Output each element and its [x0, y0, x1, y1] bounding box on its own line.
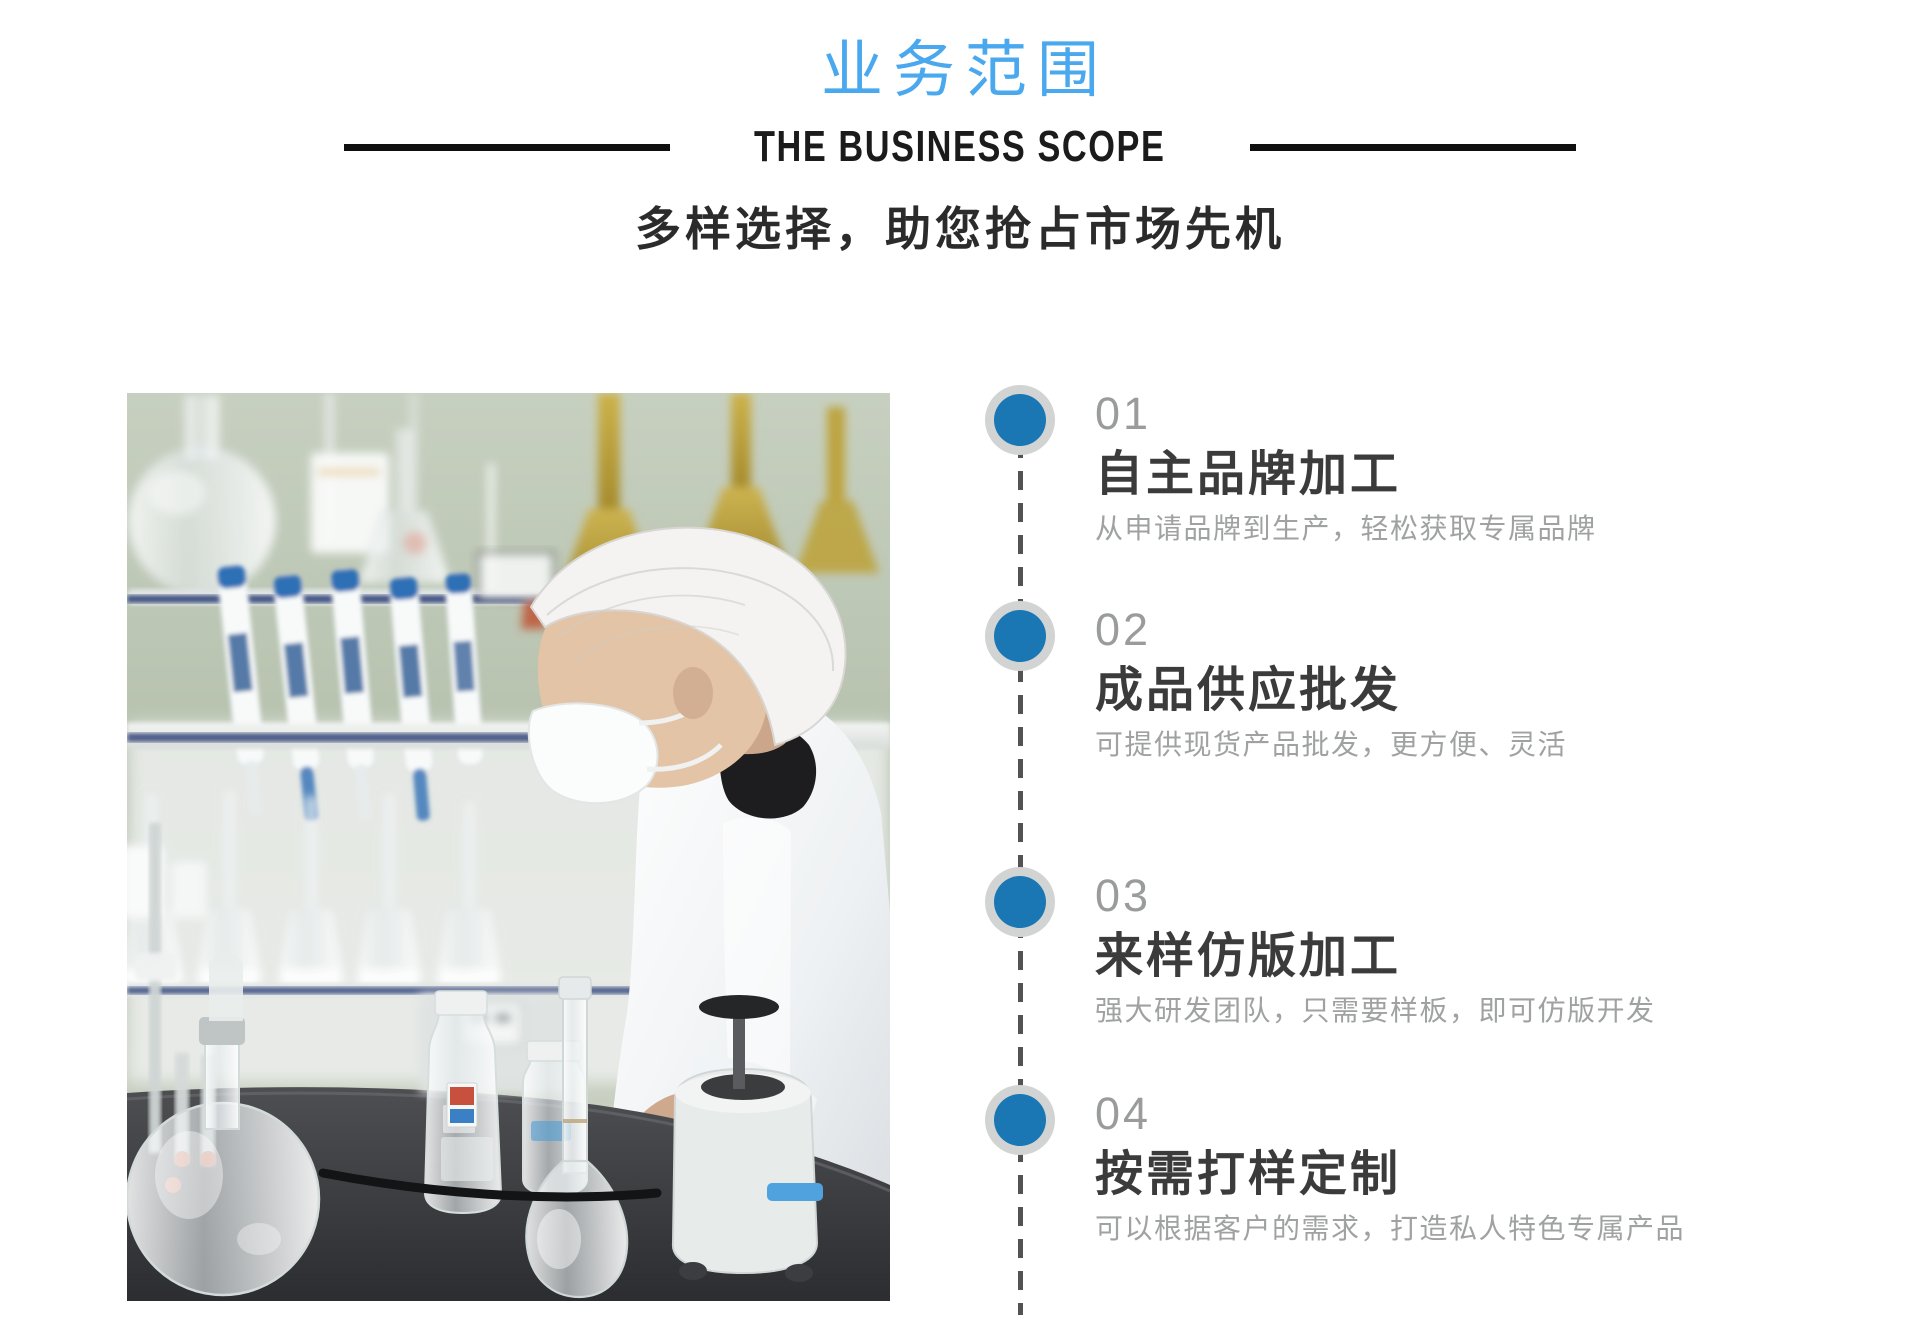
- timeline-dot-inner-03: [994, 876, 1046, 928]
- timeline-text-01: 01 自主品牌加工 从申请品牌到生产，轻松获取专属品牌: [1095, 391, 1855, 545]
- title-rule-row: THE BUSINESS SCOPE: [0, 125, 1920, 169]
- business-scope-timeline: 01 自主品牌加工 从申请品牌到生产，轻松获取专属品牌 02 成品供应批发 可提…: [985, 385, 1865, 1315]
- timeline-text-02: 02 成品供应批发 可提供现货产品批发，更方便、灵活: [1095, 607, 1855, 761]
- page-subtitle-en: THE BUSINESS SCOPE: [754, 125, 1165, 169]
- timeline-dashed-line: [1018, 407, 1023, 1315]
- timeline-dot-inner-01: [994, 394, 1046, 446]
- divider-left: [344, 144, 670, 151]
- timeline-desc-01: 从申请品牌到生产，轻松获取专属品牌: [1095, 512, 1855, 546]
- timeline-number-01: 01: [1095, 391, 1855, 436]
- timeline-dot-icon-02: [985, 601, 1055, 671]
- timeline-text-04: 04 按需打样定制 可以根据客户的需求，打造私人特色专属产品: [1095, 1091, 1855, 1245]
- lab-photo: [127, 393, 890, 1301]
- timeline-text-03: 03 来样仿版加工 强大研发团队，只需要样板，即可仿版开发: [1095, 873, 1855, 1027]
- page-title: 业务范围: [0, 38, 1920, 103]
- timeline-desc-03: 强大研发团队，只需要样板，即可仿版开发: [1095, 994, 1855, 1028]
- page-tagline: 多样选择，助您抢占市场先机: [0, 193, 1920, 259]
- timeline-dot-icon-04: [985, 1085, 1055, 1155]
- timeline-heading-02: 成品供应批发: [1095, 664, 1855, 718]
- content-area: 01 自主品牌加工 从申请品牌到生产，轻松获取专属品牌 02 成品供应批发 可提…: [0, 385, 1920, 1315]
- timeline-dot-icon-03: [985, 867, 1055, 937]
- timeline-heading-03: 来样仿版加工: [1095, 930, 1855, 984]
- timeline-dot-inner-04: [994, 1094, 1046, 1146]
- timeline-number-03: 03: [1095, 873, 1855, 918]
- timeline-desc-02: 可提供现货产品批发，更方便、灵活: [1095, 728, 1855, 762]
- timeline-heading-01: 自主品牌加工: [1095, 448, 1855, 502]
- lab-photo-illustration: [127, 393, 890, 1301]
- timeline-number-02: 02: [1095, 607, 1855, 652]
- timeline-dot-icon-01: [985, 385, 1055, 455]
- timeline-desc-04: 可以根据客户的需求，打造私人特色专属产品: [1095, 1212, 1855, 1246]
- timeline-number-04: 04: [1095, 1091, 1855, 1136]
- page-header: 业务范围 THE BUSINESS SCOPE 多样选择，助您抢占市场先机: [0, 0, 1920, 259]
- divider-right: [1250, 144, 1576, 151]
- timeline-heading-04: 按需打样定制: [1095, 1148, 1855, 1202]
- timeline-dot-inner-02: [994, 610, 1046, 662]
